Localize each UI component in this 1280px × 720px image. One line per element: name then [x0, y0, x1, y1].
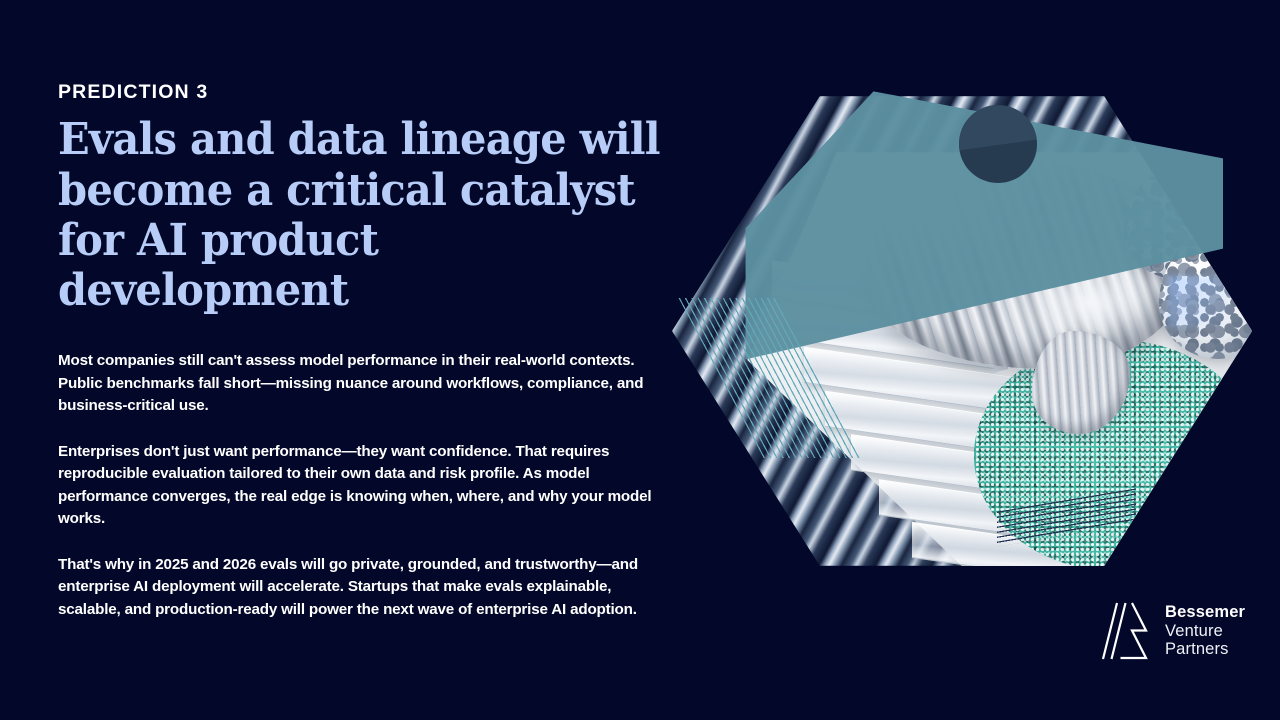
paragraph: That's why in 2025 and 2026 evals will g… — [58, 554, 668, 622]
logo-line-bessemer: Bessemer — [1165, 603, 1245, 621]
text-column: PREDICTION 3 Evals and data lineage will… — [58, 82, 673, 621]
prediction-slide: PREDICTION 3 Evals and data lineage will… — [0, 0, 1280, 720]
logo-line-venture: Venture — [1165, 622, 1245, 640]
bessemer-chevron-mark — [1100, 600, 1154, 662]
page-title: Evals and data lineage will become a cri… — [58, 115, 682, 316]
paragraph: Enterprises don't just want performance—… — [58, 441, 668, 531]
prediction-eyebrow-label: PREDICTION 3 — [58, 82, 673, 103]
logo-line-partners: Partners — [1165, 640, 1245, 658]
body-copy: Most companies still can't assess model … — [58, 350, 668, 621]
bessemer-venture-partners-logo: Bessemer Venture Partners — [1100, 600, 1245, 662]
logo-wordmark: Bessemer Venture Partners — [1165, 603, 1245, 658]
paragraph: Most companies still can't assess model … — [58, 350, 668, 418]
hexagon-collage-graphic — [672, 96, 1252, 566]
